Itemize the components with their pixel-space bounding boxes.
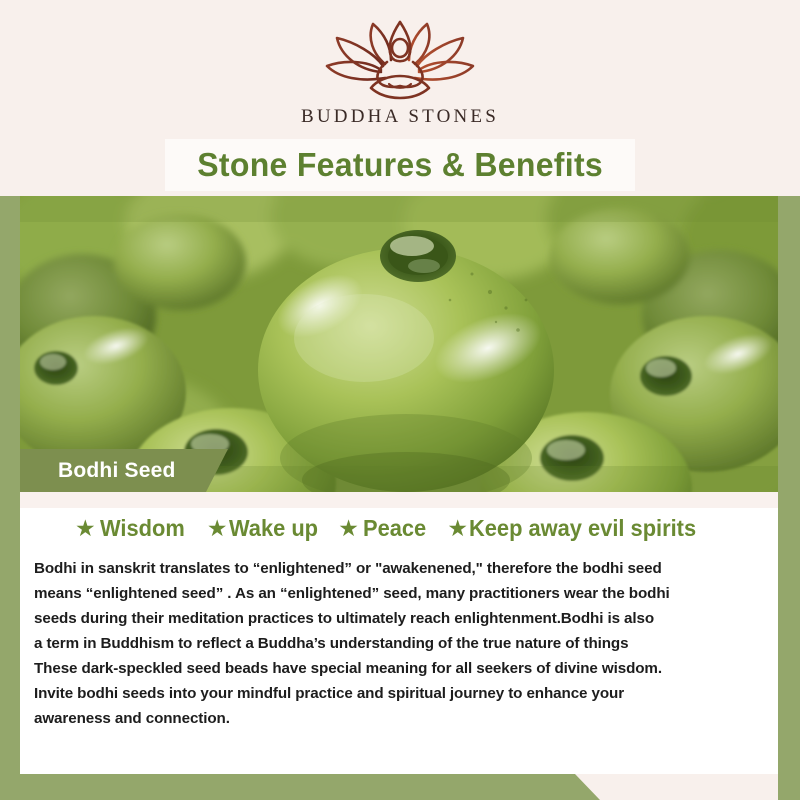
benefit-item-wake-up: ★ Wake up (207, 515, 322, 542)
description-line: a term in Buddhism to reflect a Buddha’s… (34, 631, 774, 656)
hero-image (20, 196, 778, 492)
bodhi-seed-bead-photo (20, 196, 778, 492)
content-top-tint (20, 492, 778, 508)
frame-left-bar (0, 196, 20, 800)
star-icon: ★ (207, 517, 228, 540)
benefit-label: Wake up (229, 515, 318, 542)
brand-name: BUDDHA STONES (301, 106, 499, 128)
benefit-item-wisdom: ★ Wisdom (75, 515, 189, 542)
star-icon: ★ (338, 517, 359, 540)
description-paragraph: Bodhi in sanskrit translates to “enlight… (34, 556, 774, 731)
benefit-label: Wisdom (100, 515, 185, 542)
star-icon: ★ (447, 517, 468, 540)
benefit-label: Keep away evil spirits (469, 515, 696, 542)
description-line: seeds during their meditation practices … (34, 606, 774, 631)
description-line: means “enlightened seed” . As an “enligh… (34, 581, 774, 606)
header: BUDDHA STONES Stone Features & Benefits (0, 0, 800, 196)
description-line: awareness and connection. (34, 706, 774, 731)
page-title: Stone Features & Benefits (197, 146, 603, 184)
product-infographic: BUDDHA STONES Stone Features & Benefits (0, 0, 800, 800)
benefits-list: ★ Wisdom ★ Wake up ★ Peace ★ Keep away e… (20, 515, 778, 542)
benefit-item-peace: ★ Peace (338, 515, 429, 542)
lotus-meditation-icon (315, 16, 485, 102)
brand-logo: BUDDHA STONES (0, 16, 800, 128)
description-line: These dark-speckled seed beads have spec… (34, 656, 774, 681)
benefit-item-keep-away-evil-spirits: ★ Keep away evil spirits (447, 515, 708, 542)
frame-bottom-band (0, 774, 800, 800)
title-plate: Stone Features & Benefits (165, 139, 635, 191)
benefit-label: Peace (363, 515, 426, 542)
hero-caption-text: Bodhi Seed (58, 459, 176, 483)
description-line: Invite bodhi seeds into your mindful pra… (34, 681, 774, 706)
content-panel: ★ Wisdom ★ Wake up ★ Peace ★ Keep away e… (20, 492, 778, 774)
description-line: Bodhi in sanskrit translates to “enlight… (34, 556, 774, 581)
hero-caption-banner: Bodhi Seed (20, 449, 228, 492)
star-icon: ★ (75, 517, 96, 540)
